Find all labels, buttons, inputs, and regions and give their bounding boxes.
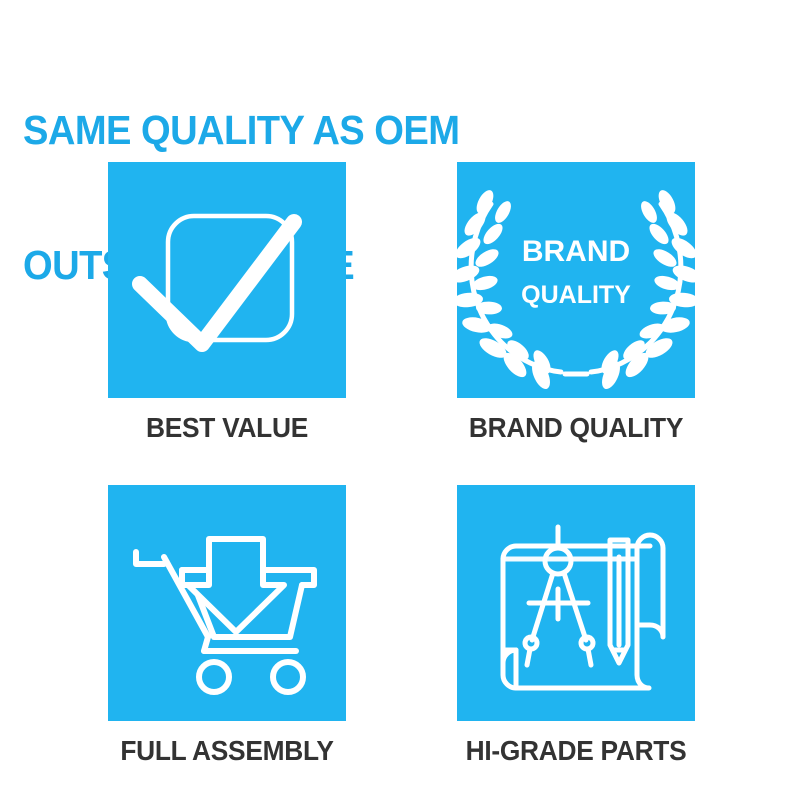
feature-card-full-assembly[interactable]: FULL ASSEMBLY (108, 485, 346, 767)
blueprint-compass-pencil-icon (457, 485, 695, 721)
feature-caption: FULL ASSEMBLY (115, 735, 339, 767)
page-title-line-1: SAME QUALITY AS OEM (23, 108, 711, 153)
feature-card-best-value[interactable]: BEST VALUE (108, 162, 346, 444)
laurel-wreath-icon: BRAND QUALITY (457, 162, 695, 398)
shopping-cart-download-icon (108, 485, 346, 721)
feature-icon-tile (108, 162, 346, 398)
checkbox-check-icon (108, 162, 346, 398)
feature-card-hi-grade-parts[interactable]: HI-GRADE PARTS (457, 485, 695, 767)
feature-caption: HI-GRADE PARTS (464, 735, 688, 767)
wreath-badge-line-1: BRAND (522, 235, 630, 268)
feature-grid: BEST VALUE (108, 162, 696, 762)
feature-card-brand-quality[interactable]: BRAND QUALITY BRAND QUALITY (457, 162, 695, 444)
download-arrow-icon (188, 539, 284, 632)
feature-caption: BRAND QUALITY (464, 412, 688, 444)
feature-icon-tile: BRAND QUALITY (457, 162, 695, 398)
feature-icon-tile (108, 485, 346, 721)
wreath-badge-line-2: QUALITY (521, 281, 631, 309)
infographic-poster: SAME QUALITY AS OEM OUTSIDE + INSIDE BES… (0, 0, 800, 800)
feature-icon-tile (457, 485, 695, 721)
feature-caption: BEST VALUE (115, 412, 339, 444)
